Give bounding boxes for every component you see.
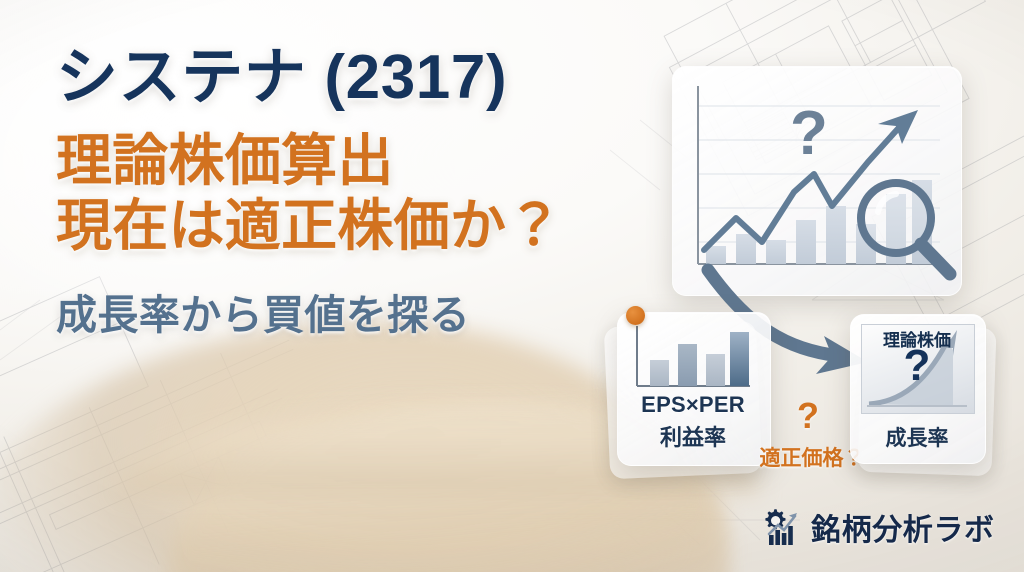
sub-headline: 成長率から買値を探る (56, 281, 676, 341)
stock-chart-graphic: ? (672, 66, 960, 294)
eps-card-label-1: EPS×PER (617, 392, 769, 418)
orange-dot-icon (626, 306, 645, 325)
thumbnail-canvas: システナ (2317) 理論株価算出 現在は適正株価か？ 成長率から買値を探る (0, 0, 1024, 572)
eps-card-label-2: 利益率 (617, 420, 769, 452)
question-mark-icon: ? (790, 99, 828, 168)
gear-bar-chart-arrow-icon (762, 507, 802, 547)
bar-chart-icon (630, 324, 756, 396)
connector-question-mark: ? (781, 398, 835, 434)
headline-orange-line-2: 現在は適正株価か？ (56, 194, 676, 259)
headline-block: システナ (2317) 理論株価算出 現在は適正株価か？ 成長率から買値を探る (56, 46, 676, 341)
brand-logo[interactable]: 銘柄分析ラボ (762, 505, 995, 549)
headline-orange-line-1: 理論株価算出 (56, 129, 676, 194)
page-title: システナ (2317) (56, 46, 676, 109)
brand-name: 銘柄分析ラボ (811, 505, 995, 549)
growth-card-question-mark: ? (861, 344, 973, 388)
growth-card-label: 成長率 (850, 422, 984, 452)
svg-text:?: ? (790, 99, 828, 168)
trend-arrow-head (878, 110, 918, 144)
